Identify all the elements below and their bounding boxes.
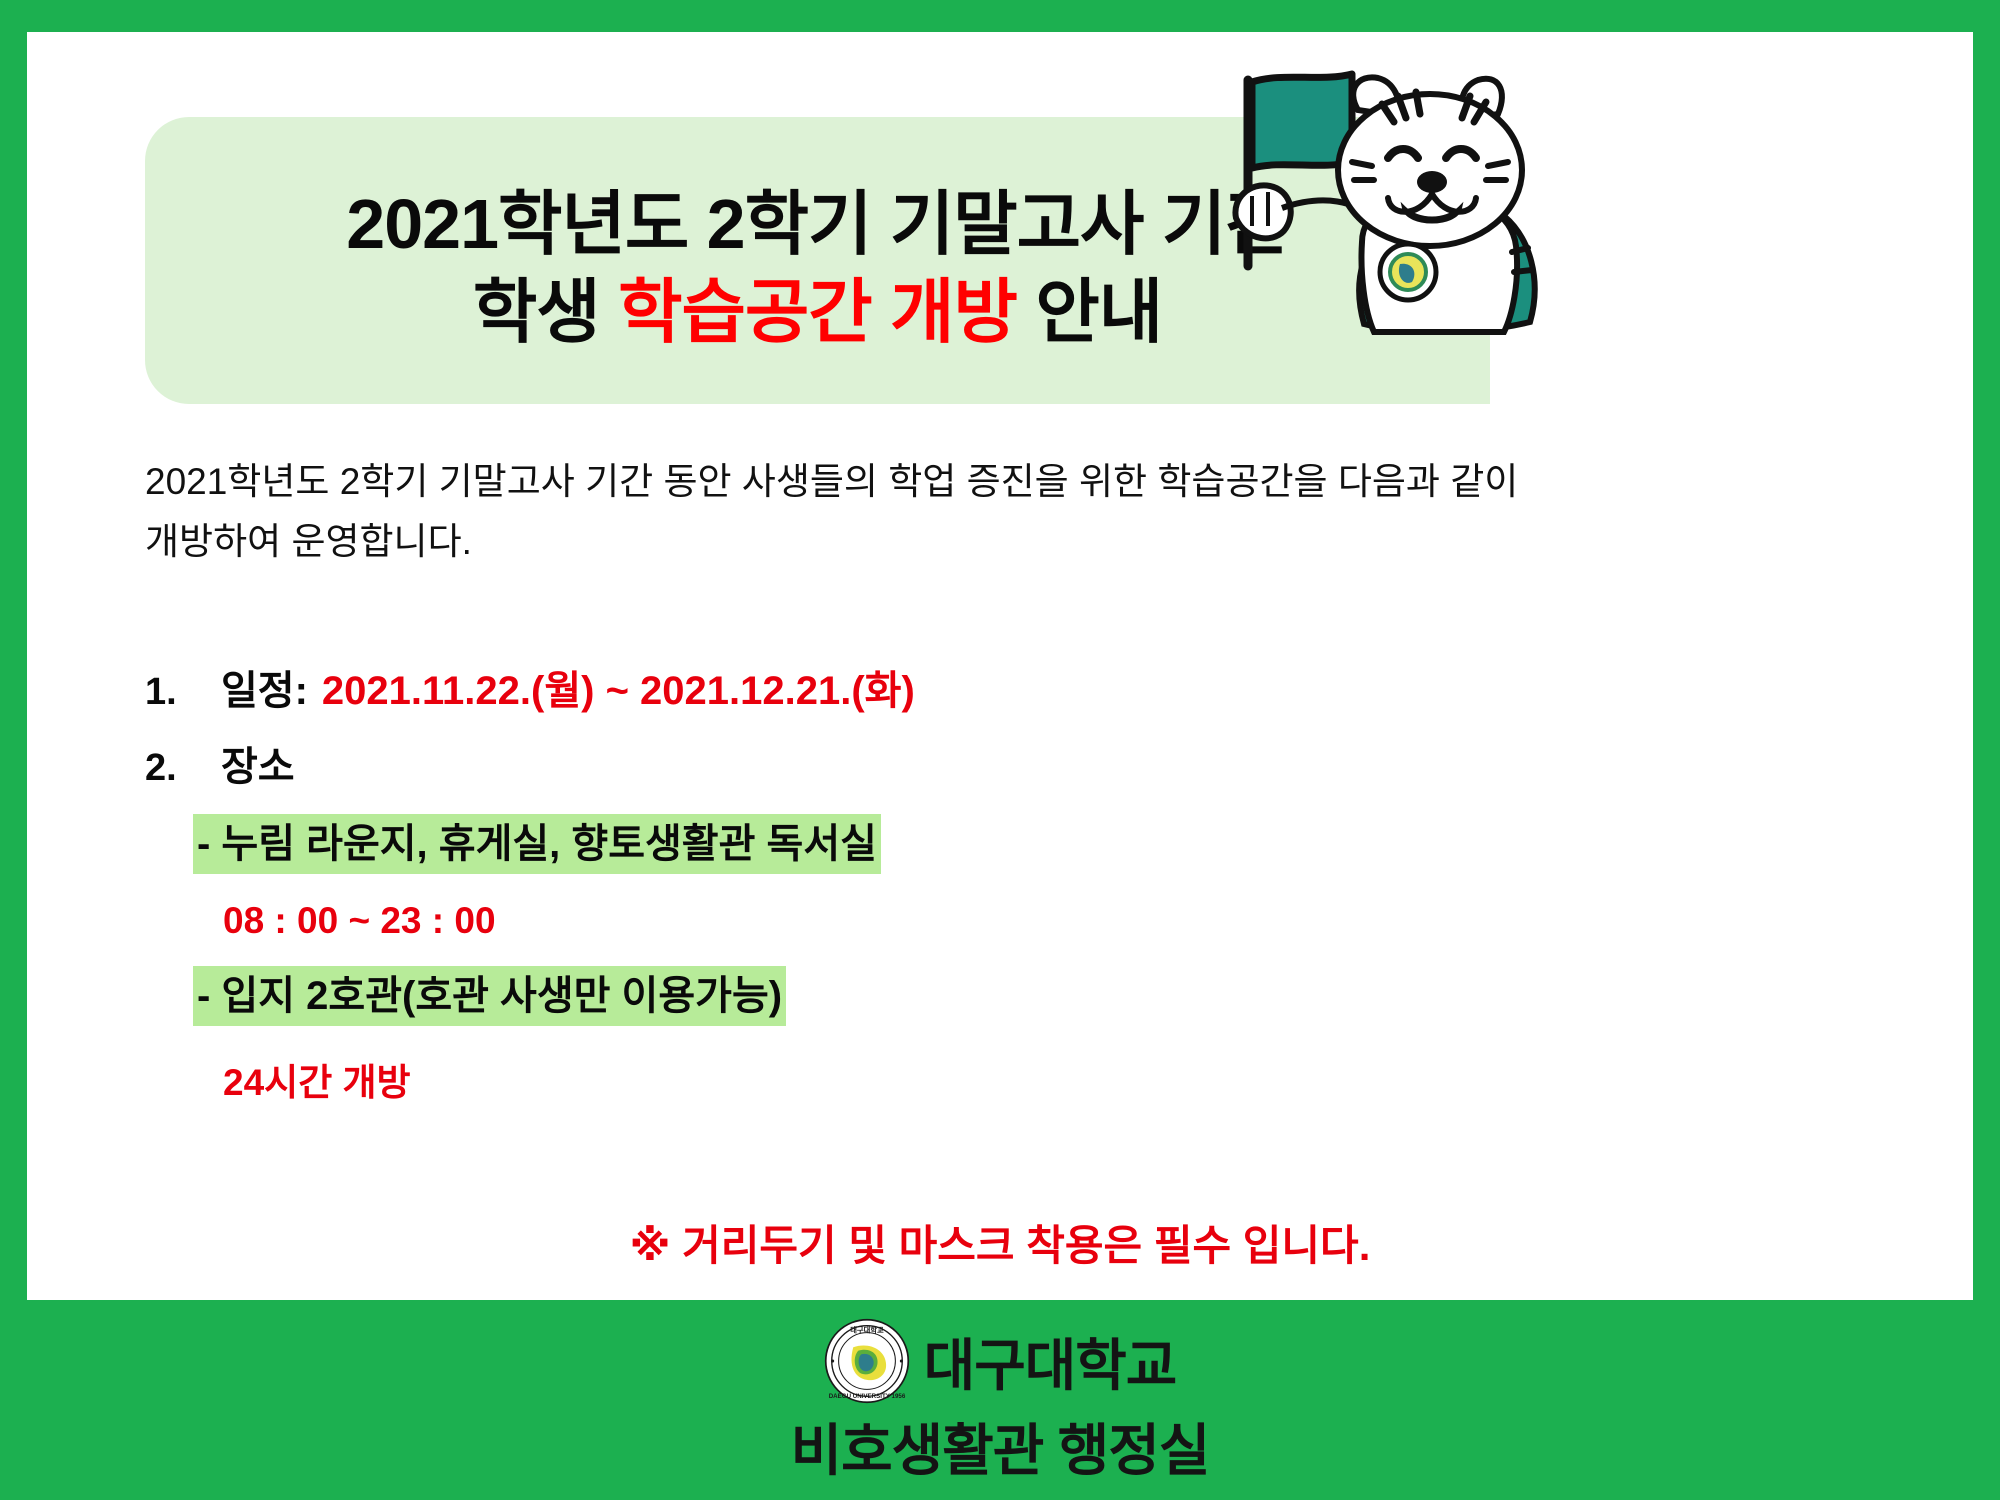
title-line-2-prefix: 학생 [473, 273, 618, 351]
details-list: 1. 일정: 2021.11.22.(월) ~ 2021.12.21.(화) 2… [145, 662, 1445, 1130]
intro-paragraph: 2021학년도 2학기 기말고사 기간 동안 사생들의 학업 증진을 위한 학습… [145, 452, 1525, 572]
place-entry-2: - 입지 2호관(호관 사생만 이용가능) [193, 966, 1445, 1026]
footer-department-name: 비호생활관 행정실 [791, 1406, 1210, 1487]
poster-root: 2021학년도 2학기 기말고사 기간 학생 학습공간 개방 안내 [0, 0, 2000, 1500]
list-item-place-label: 장소 [221, 738, 295, 796]
content-card: 2021학년도 2학기 기말고사 기간 학생 학습공간 개방 안내 [27, 32, 1973, 1300]
place-hours-2: 24시간 개방 [223, 1052, 1445, 1106]
safety-notice: ※ 거리두기 및 마스크 착용은 필수 입니다. [27, 1212, 1973, 1273]
list-item-schedule-number: 1. [145, 665, 221, 720]
svg-text:대구대학교: 대구대학교 [850, 1326, 884, 1335]
place-hours-1: 08 : 00 ~ 23 : 00 [223, 900, 1445, 942]
title-line-2-highlight: 학습공간 개방 [618, 273, 1017, 351]
footer-university-name: 대구대학교 [924, 1321, 1177, 1402]
white-tiger-mascot-icon [1212, 66, 1612, 338]
list-item-schedule-value: 2021.11.22.(월) ~ 2021.12.21.(화) [322, 662, 915, 720]
title-line-2-suffix: 안내 [1017, 273, 1162, 351]
title-line-1: 2021학년도 2학기 기말고사 기간 [346, 182, 1288, 267]
poster-footer: 대구대학교 DAEGU UNIVERSITY 1956 대구대학교 비호생활관 … [0, 1318, 2000, 1487]
place-entry-1: - 누림 라운지, 휴게실, 향토생활관 독서실 [193, 814, 1445, 874]
footer-university-row: 대구대학교 DAEGU UNIVERSITY 1956 대구대학교 [824, 1318, 1177, 1404]
list-item-schedule-label: 일정: [221, 662, 308, 720]
place-name-1: - 누림 라운지, 휴게실, 향토생활관 독서실 [193, 814, 881, 874]
svg-text:DAEGU UNIVERSITY 1956: DAEGU UNIVERSITY 1956 [828, 1393, 905, 1400]
list-item-schedule: 1. 일정: 2021.11.22.(월) ~ 2021.12.21.(화) [145, 662, 1445, 720]
daegu-university-logo-icon: 대구대학교 DAEGU UNIVERSITY 1956 [824, 1318, 910, 1404]
place-name-2: - 입지 2호관(호관 사생만 이용가능) [193, 966, 786, 1026]
list-item-place: 2. 장소 [145, 738, 1445, 796]
list-item-place-number: 2. [145, 741, 221, 796]
title-line-2: 학생 학습공간 개방 안내 [473, 270, 1162, 355]
